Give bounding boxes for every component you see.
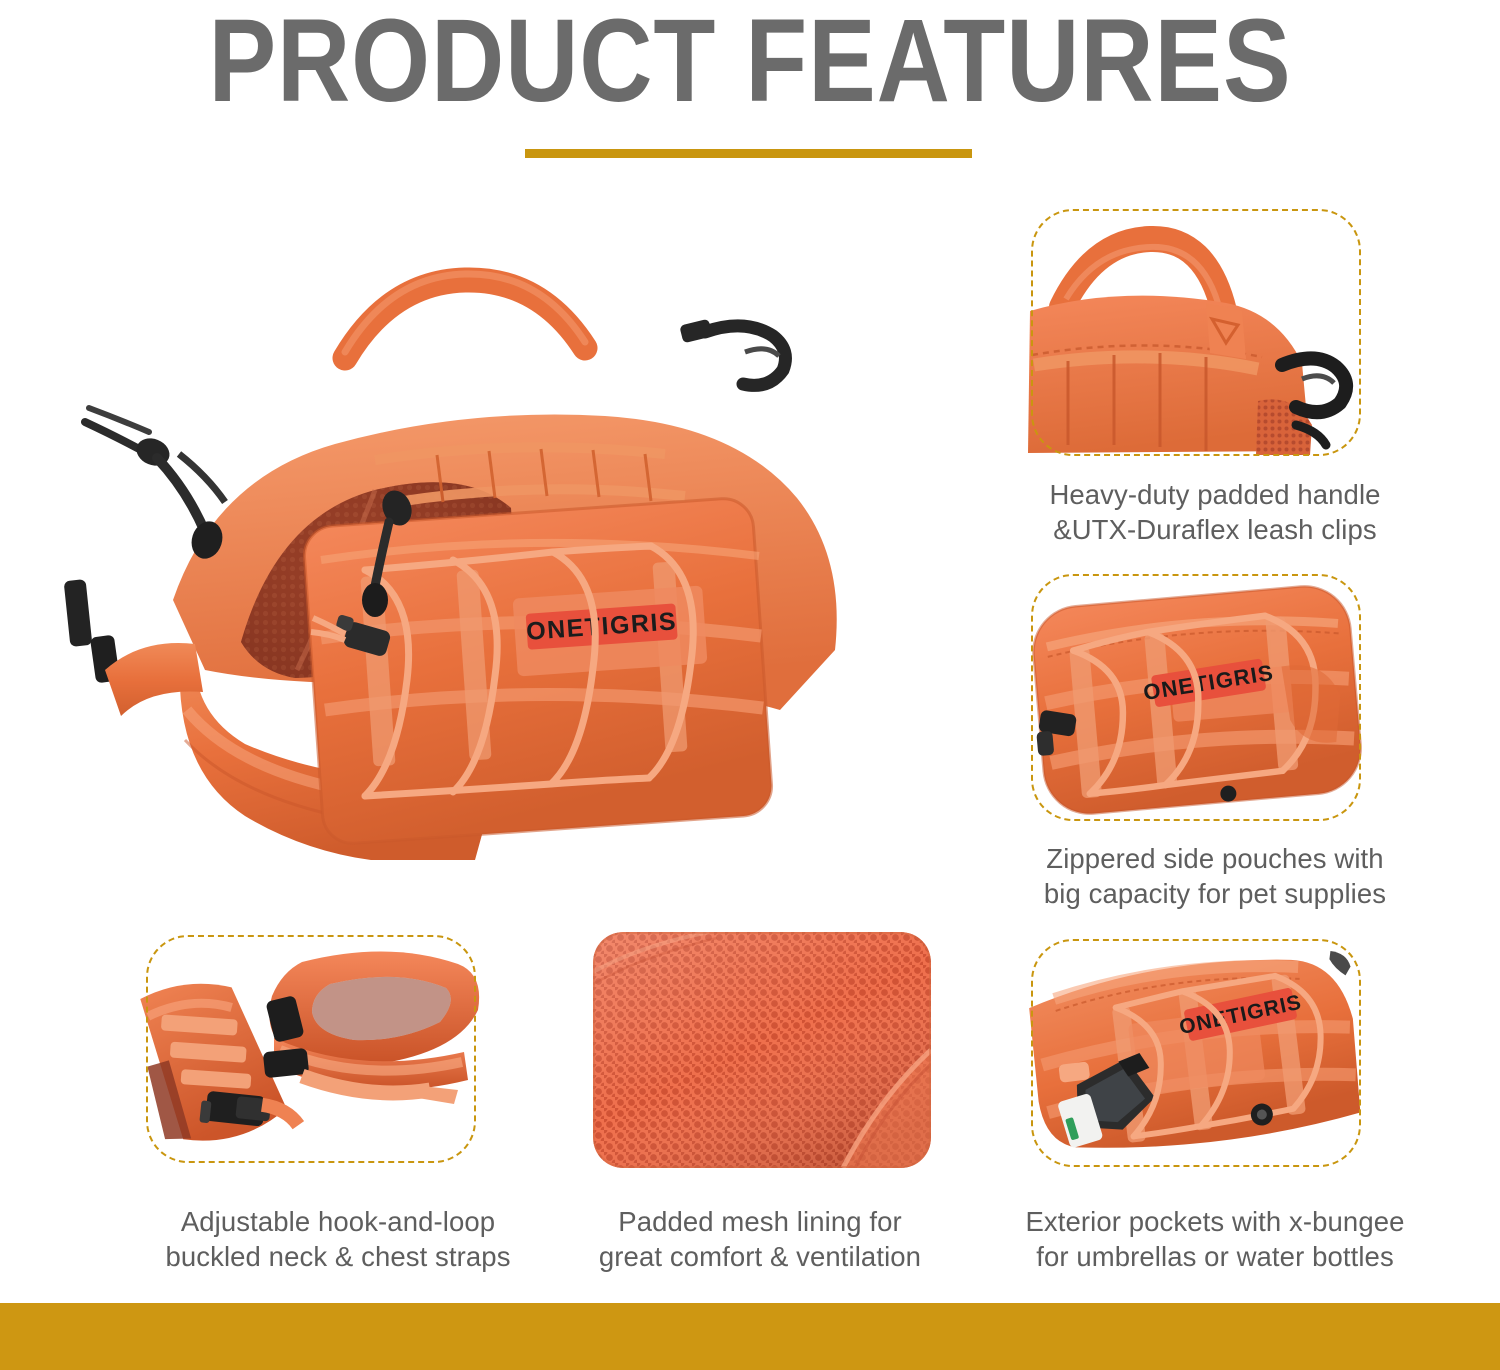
feature-frame-handle	[1031, 209, 1361, 456]
feature-frame-pouches	[1031, 574, 1361, 821]
feature-caption-straps: Adjustable hook-and-loop buckled neck & …	[118, 1204, 558, 1284]
dashed-border-pouches	[1031, 574, 1361, 821]
dashed-border-handle	[1031, 209, 1361, 456]
feature-photo-mesh	[593, 932, 931, 1168]
page-title: PRODUCT FEATURES	[105, 0, 1395, 126]
hero-product-photo: ONETIGRIS	[45, 240, 950, 860]
feature-caption-pouches: Zippered side pouches with big capacity …	[995, 841, 1435, 921]
hero-carry-handle	[345, 274, 585, 358]
dashed-border-exterior	[1031, 939, 1361, 1167]
feature-caption-exterior: Exterior pockets with x-bungee for umbre…	[990, 1204, 1440, 1284]
footer-gold-band	[0, 1303, 1500, 1370]
dashed-border-straps	[146, 935, 476, 1163]
feature-caption-mesh: Padded mesh lining for great comfort & v…	[565, 1204, 955, 1284]
feature-frame-straps	[146, 935, 476, 1163]
hero-leash-clip	[679, 319, 785, 386]
product-features-page: PRODUCT FEATURES	[0, 0, 1500, 1370]
page-header: PRODUCT FEATURES	[0, 0, 1500, 175]
title-underline-rule	[525, 149, 972, 158]
hero-side-pouch: ONETIGRIS	[302, 497, 773, 846]
feature-caption-handle: Heavy-duty padded handle &UTX-Duraflex l…	[1000, 477, 1430, 557]
feature-frame-exterior	[1031, 939, 1361, 1167]
